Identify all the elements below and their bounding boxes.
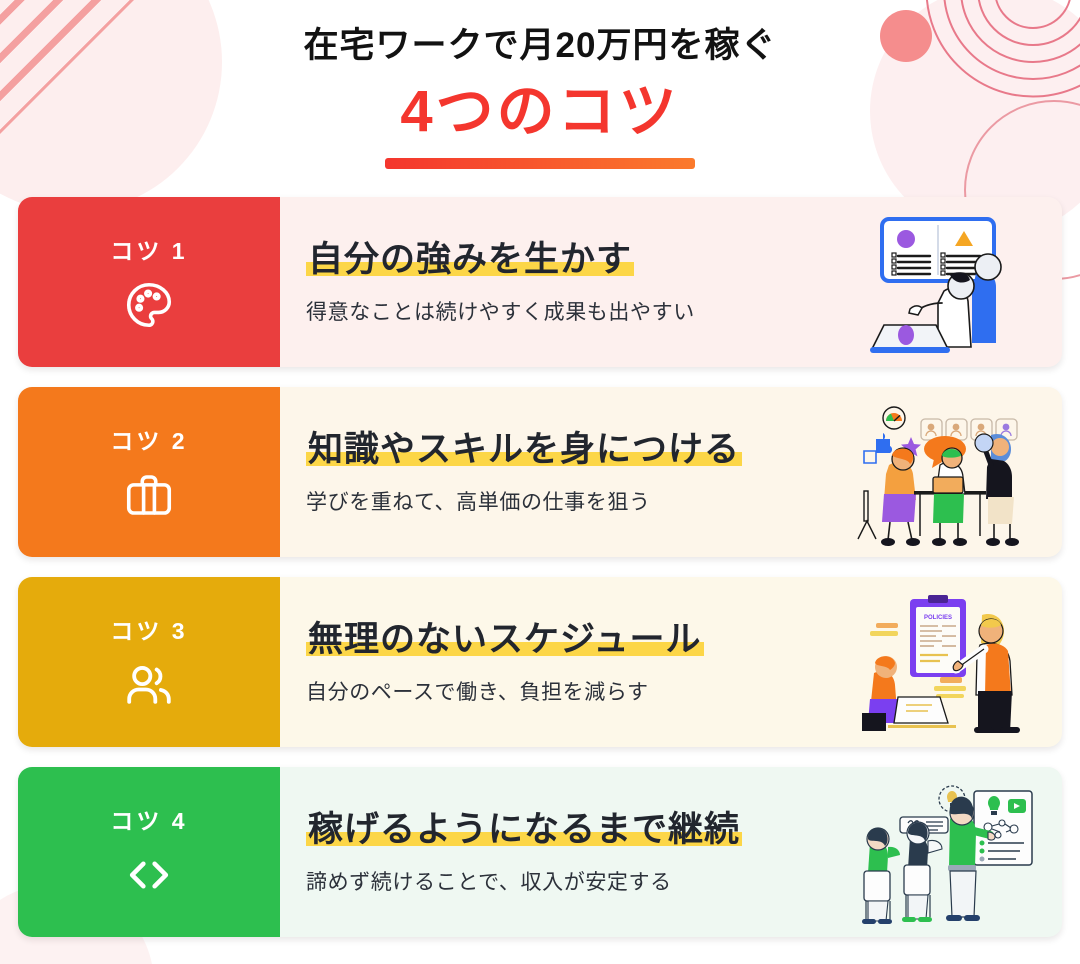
tip-card-body: 稼げるようになるまで継続 諦めず続けることで、収入が安定する xyxy=(280,767,1062,937)
tip-badge: コツ 1 xyxy=(18,197,280,367)
tip-card[interactable]: コツ 1 自分の強みを生かす 得意なことは続けやすく成果も出やすい xyxy=(18,197,1062,367)
infographic-page: 在宅ワークで月20万円を稼ぐ 4つのコツ コツ 1 自分の強みを生かす xyxy=(0,0,1080,937)
tip-card-body: 自分の強みを生かす 得意なことは続けやすく成果も出やすい xyxy=(280,197,1062,367)
page-eyebrow: 在宅ワークで月20万円を稼ぐ xyxy=(18,24,1062,68)
two-people-presentation-board-illustration xyxy=(848,207,1048,357)
tip-card[interactable]: コツ 4 稼げるようになるまで継続 諦めず続けることで、収入が安定する xyxy=(18,767,1062,937)
tip-badge: コツ 4 xyxy=(18,767,280,937)
tip-badge: コツ 2 xyxy=(18,387,280,557)
palette-icon xyxy=(122,278,176,332)
tip-card[interactable]: コツ 2 知識やスキルを身につける 学びを重ねて、高単価の仕事を狙う xyxy=(18,387,1062,557)
title-underline xyxy=(385,158,695,169)
people-icon xyxy=(122,658,176,712)
team-collaboration-desk-illustration xyxy=(848,397,1048,547)
tip-text-block: 無理のないスケジュール 自分のペースで働き、負担を減らす xyxy=(306,616,704,707)
tip-title: 稼げるようになるまで継続 xyxy=(306,810,742,849)
policies-clipboard-review-illustration: POLICIES xyxy=(848,587,1048,737)
tip-card[interactable]: コツ 3 無理のないスケジュール 自分のペースで働き、負担を減らす xyxy=(18,577,1062,747)
tip-badge: コツ 3 xyxy=(18,577,280,747)
code-brackets-icon xyxy=(122,848,176,902)
svg-text:POLICIES: POLICIES xyxy=(924,615,952,621)
tip-title: 無理のないスケジュール xyxy=(306,620,704,659)
lecture-audience-whiteboard-illustration xyxy=(848,777,1048,927)
tip-text-block: 稼げるようになるまで継続 諦めず続けることで、収入が安定する xyxy=(306,806,742,897)
tip-subtitle: 自分のペースで働き、負担を減らす xyxy=(306,679,704,707)
page-header: 在宅ワークで月20万円を稼ぐ 4つのコツ xyxy=(18,0,1062,169)
tip-card-body: 無理のないスケジュール 自分のペースで働き、負担を減らす POLICIES xyxy=(280,577,1062,747)
tip-title: 知識やスキルを身につける xyxy=(306,430,742,469)
tip-badge-label: コツ 3 xyxy=(110,612,187,646)
tip-badge-label: コツ 2 xyxy=(110,422,187,456)
tip-text-block: 自分の強みを生かす 得意なことは続けやすく成果も出やすい xyxy=(306,236,695,327)
tip-subtitle: 学びを重ねて、高単価の仕事を狙う xyxy=(306,489,742,517)
tip-subtitle: 得意なことは続けやすく成果も出やすい xyxy=(306,299,695,327)
tip-badge-label: コツ 4 xyxy=(110,802,187,836)
tip-badge-label: コツ 1 xyxy=(110,232,187,266)
page-title: 4つのコツ xyxy=(18,80,1062,144)
tip-title: 自分の強みを生かす xyxy=(306,240,634,279)
tip-card-body: 知識やスキルを身につける 学びを重ねて、高単価の仕事を狙う xyxy=(280,387,1062,557)
tip-text-block: 知識やスキルを身につける 学びを重ねて、高単価の仕事を狙う xyxy=(306,426,742,517)
briefcase-icon xyxy=(122,468,176,522)
tip-subtitle: 諦めず続けることで、収入が安定する xyxy=(306,869,742,897)
tips-card-list: コツ 1 自分の強みを生かす 得意なことは続けやすく成果も出やすい xyxy=(18,197,1062,937)
